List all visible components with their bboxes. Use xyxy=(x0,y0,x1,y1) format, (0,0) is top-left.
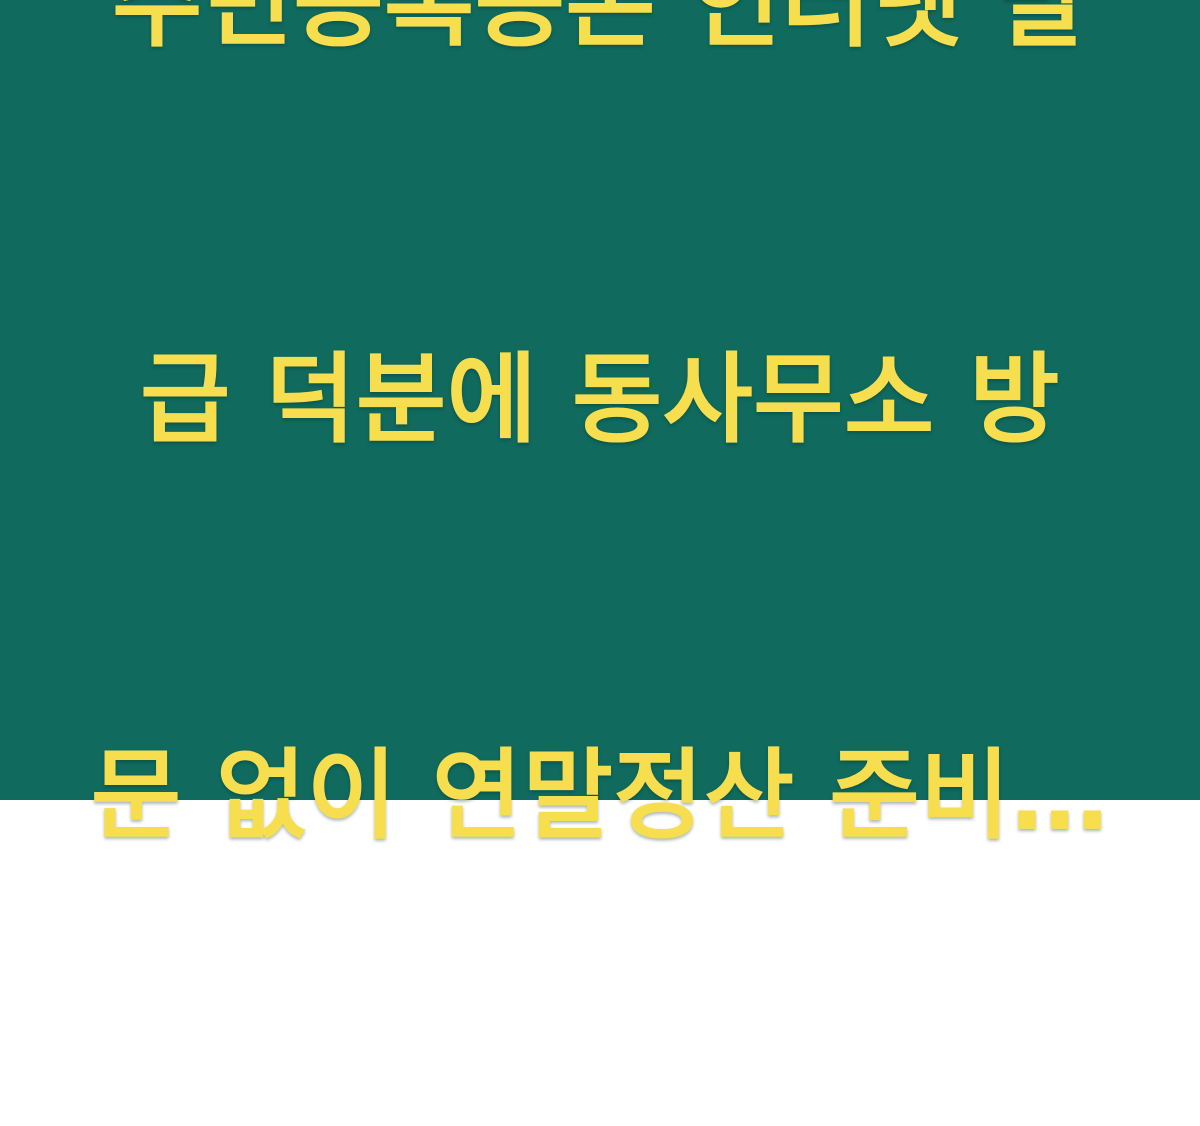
headline-text: 주민등록등본 인터넷 발 급 덕분에 동사무소 방 문 없이 연말정산 준비… xyxy=(80,0,1120,1126)
thumbnail-card: 주민등록등본 인터넷 발 급 덕분에 동사무소 방 문 없이 연말정산 준비… xyxy=(0,0,1200,800)
headline-line-3: 문 없이 연말정산 준비… xyxy=(80,730,1120,862)
headline-line-2: 급 덕분에 동사무소 방 xyxy=(80,334,1120,466)
headline-line-1: 주민등록등본 인터넷 발 xyxy=(80,0,1120,70)
